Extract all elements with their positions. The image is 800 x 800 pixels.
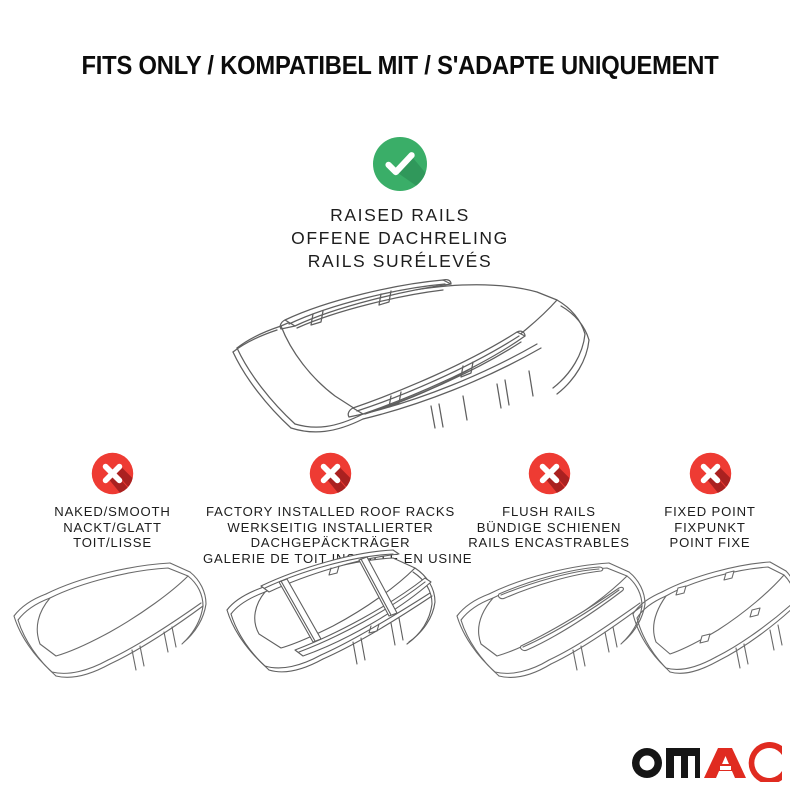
logo-letter-a <box>704 748 746 778</box>
incompatible-item-fixed-point: FIXED POINT FIXPUNKT POINT FIXE <box>630 452 790 551</box>
label-line-1: NAKED/SMOOTH <box>10 504 215 520</box>
incompatible-section: NAKED/SMOOTH NACKT/GLATT TOIT/LISSE <box>0 452 800 702</box>
car-roof-flush-rails-illustration <box>449 558 649 683</box>
compatible-labels: RAISED RAILS OFFENE DACHRELING RAILS SUR… <box>0 204 800 273</box>
label-line-3: TOIT/LISSE <box>10 535 215 551</box>
car-roof-factory-rack-illustration <box>203 544 458 684</box>
compatible-section: RAISED RAILS OFFENE DACHRELING RAILS SUR… <box>0 136 800 273</box>
check-circle-icon <box>372 136 428 192</box>
compatible-label-de: OFFENE DACHRELING <box>0 227 800 250</box>
car-roof-naked-smooth-illustration <box>10 558 215 683</box>
incompatible-item-naked-smooth: NAKED/SMOOTH NACKT/GLATT TOIT/LISSE <box>10 452 215 551</box>
label-line-2: NACKT/GLATT <box>10 520 215 536</box>
x-circle-icon <box>689 452 732 495</box>
car-roof-fixed-point-illustration <box>630 558 790 683</box>
label-line-1: FIXED POINT <box>630 504 790 520</box>
incompatible-labels: NAKED/SMOOTH NACKT/GLATT TOIT/LISSE <box>10 504 215 551</box>
compatible-label-fr: RAILS SURÉLEVÉS <box>0 250 800 273</box>
logo-letter-o <box>632 748 662 778</box>
label-line-1: FLUSH RAILS <box>449 504 649 520</box>
car-roof-raised-rails-illustration <box>185 278 615 443</box>
label-line-2: BÜNDIGE SCHIENEN <box>449 520 649 536</box>
compatible-label-en: RAISED RAILS <box>0 204 800 227</box>
x-circle-icon <box>309 452 352 495</box>
label-line-2: FIXPUNKT <box>630 520 790 536</box>
incompatible-item-flush-rails: FLUSH RAILS BÜNDIGE SCHIENEN RAILS ENCAS… <box>449 452 649 551</box>
incompatible-labels: FLUSH RAILS BÜNDIGE SCHIENEN RAILS ENCAS… <box>449 504 649 551</box>
incompatible-labels: FIXED POINT FIXPUNKT POINT FIXE <box>630 504 790 551</box>
x-circle-icon <box>528 452 571 495</box>
fitment-info-graphic: FITS ONLY / KOMPATIBEL MIT / S'ADAPTE UN… <box>0 0 800 800</box>
incompatible-item-factory-rack: FACTORY INSTALLED ROOF RACKS WERKSEITIG … <box>203 452 458 566</box>
page-title: FITS ONLY / KOMPATIBEL MIT / S'ADAPTE UN… <box>28 52 772 81</box>
logo-letter-c <box>749 742 782 782</box>
label-line-2: WERKSEITIG INSTALLIERTER <box>203 520 458 536</box>
label-line-3: POINT FIXE <box>630 535 790 551</box>
label-line-3: RAILS ENCASTRABLES <box>449 535 649 551</box>
label-line-1: FACTORY INSTALLED ROOF RACKS <box>203 504 458 520</box>
x-circle-icon <box>91 452 134 495</box>
omac-logo <box>632 742 782 782</box>
logo-letter-m <box>666 748 700 778</box>
